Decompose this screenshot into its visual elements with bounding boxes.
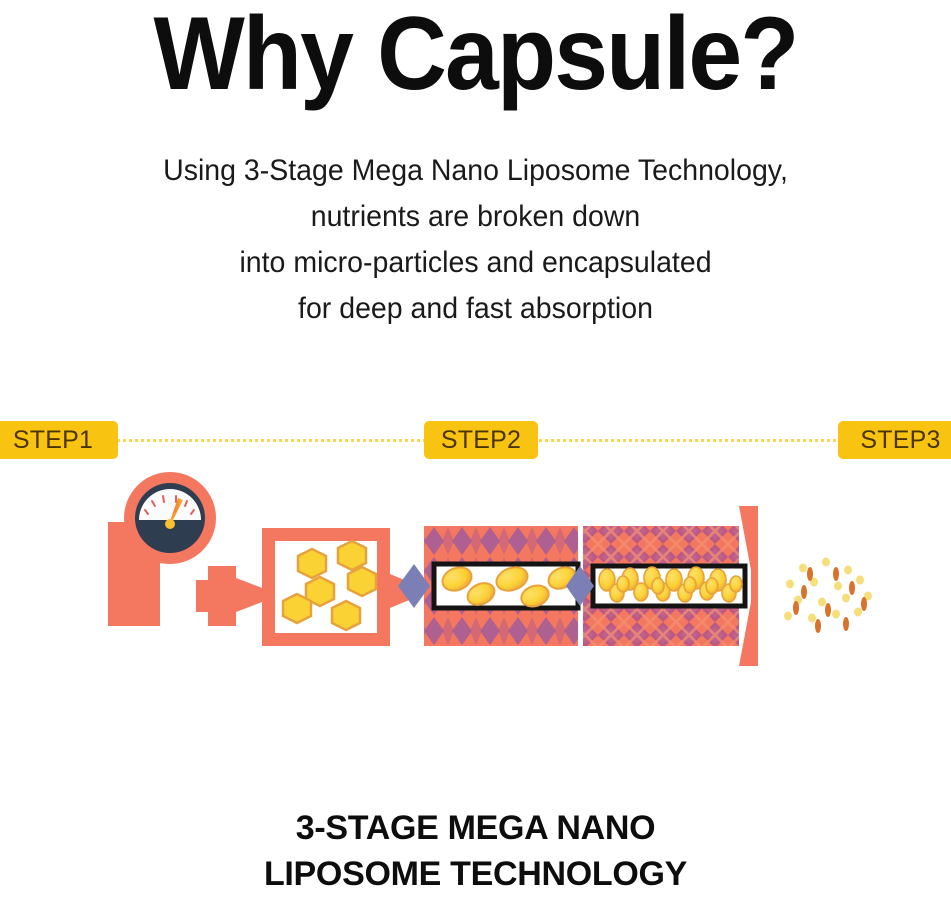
spray-particle (807, 567, 813, 581)
spray-particle (843, 617, 849, 631)
spray-particle (833, 567, 839, 581)
spray-particle (815, 619, 821, 633)
step-badge-3: STEP3 (838, 421, 951, 459)
spray-particle-group (784, 558, 872, 634)
dotted-connector-2 (532, 439, 844, 445)
hexagon-particle (348, 567, 376, 596)
nano-particle (730, 576, 742, 592)
spray-orange-group (793, 567, 867, 633)
description-line: Using 3-Stage Mega Nano Liposome Technol… (24, 148, 927, 194)
hexagon-particle (338, 541, 366, 570)
spray-particle (834, 582, 842, 591)
page-title: Why Capsule? (33, 0, 917, 112)
hexagon-particle (298, 549, 326, 578)
spray-particle (861, 597, 867, 611)
spray-particle (822, 558, 830, 567)
spray-particle (825, 603, 831, 617)
spray-particle (793, 601, 799, 615)
spray-particle (832, 610, 840, 619)
caption-line: LIPOSOME TECHNOLOGY (0, 851, 951, 897)
stage1-group (108, 472, 414, 646)
spray-particle (856, 576, 864, 585)
spray-particle (854, 608, 862, 617)
spray-particle (799, 564, 807, 573)
stage2-group (398, 526, 579, 646)
nano-particle (706, 578, 718, 594)
spray-particle (842, 594, 850, 603)
description-line: for deep and fast absorption (24, 286, 927, 332)
dotted-connector-1 (112, 439, 432, 445)
spray-particle (801, 585, 807, 599)
spray-particle (784, 612, 792, 621)
gauge-needle-hub (165, 519, 175, 529)
description-line: nutrients are broken down (24, 194, 927, 240)
spray-particle (844, 566, 852, 575)
step-indicator-strip: STEP1 STEP2 STEP3 (0, 421, 951, 461)
description-block: Using 3-Stage Mega Nano Liposome Technol… (24, 148, 927, 332)
process-diagram-svg (0, 466, 951, 686)
spray-particle (849, 581, 855, 595)
spray-particle (808, 614, 816, 623)
nano-particle (684, 577, 696, 593)
nano-particle (617, 576, 629, 592)
description-line: into micro-particles and encapsulated (24, 240, 927, 286)
step-badge-2: STEP2 (424, 421, 538, 459)
spray-particle (786, 580, 794, 589)
spray-particle (818, 598, 826, 607)
caption-line: 3-STAGE MEGA NANO (0, 805, 951, 851)
process-illustration (0, 466, 951, 686)
nano-particle (652, 578, 664, 594)
pipe-nozzle (236, 578, 262, 612)
stage3-group (566, 506, 758, 666)
hexagon-particle (332, 601, 360, 630)
hexagon-particle (283, 594, 311, 623)
technology-caption: 3-STAGE MEGA NANO LIPOSOME TECHNOLOGY (0, 805, 951, 897)
step-badge-1: STEP1 (0, 421, 118, 459)
